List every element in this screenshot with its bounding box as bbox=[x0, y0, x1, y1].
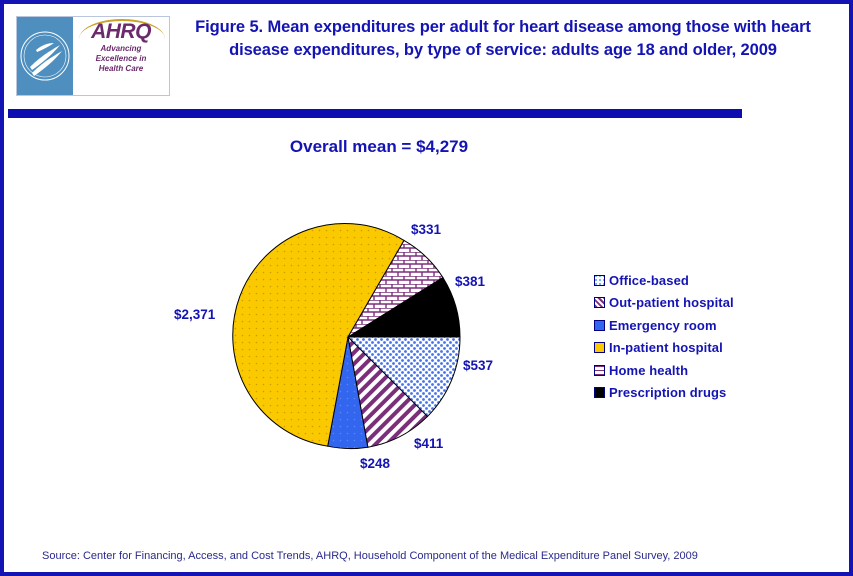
overall-mean-label: Overall mean = $4,279 bbox=[264, 137, 494, 157]
ahrq-logo: AHRQ Advancing Excellence in Health Care bbox=[16, 16, 170, 96]
hhs-seal-icon bbox=[20, 23, 70, 89]
legend-item-home-health[interactable]: Home health bbox=[594, 359, 784, 382]
pie-chart-svg bbox=[8, 164, 568, 494]
hhs-seal-panel bbox=[17, 17, 73, 95]
figure-page: AHRQ Advancing Excellence in Health Care… bbox=[0, 0, 853, 576]
legend-label-home-health: Home health bbox=[609, 363, 688, 378]
value-label-out-patient-hospital: $411 bbox=[414, 436, 443, 451]
pie-chart: $331 $381 $537 $411 $248 $2,371 bbox=[8, 164, 568, 494]
ahrq-tagline: Advancing Excellence in Health Care bbox=[96, 44, 147, 74]
ahrq-acronym: AHRQ bbox=[91, 21, 151, 42]
legend-item-in-patient-hospital[interactable]: In-patient hospital bbox=[594, 337, 784, 360]
legend-label-emergency-room: Emergency room bbox=[609, 318, 717, 333]
header-divider bbox=[8, 109, 742, 118]
legend-label-out-patient-hospital: Out-patient hospital bbox=[609, 295, 734, 310]
ahrq-tagline-line1: Advancing bbox=[96, 44, 147, 54]
source-note: Source: Center for Financing, Access, an… bbox=[42, 550, 698, 562]
value-label-home-health: $331 bbox=[411, 222, 441, 237]
chart-area: $331 $381 $537 $411 $248 $2,371 Office-b… bbox=[8, 164, 853, 524]
legend-swatch-emergency-room bbox=[594, 320, 605, 331]
value-label-prescription-drugs: $381 bbox=[455, 274, 485, 289]
legend-swatch-out-patient-hospital bbox=[594, 297, 605, 308]
figure-header: AHRQ Advancing Excellence in Health Care… bbox=[8, 8, 853, 104]
pie-slices bbox=[233, 223, 460, 448]
ahrq-tagline-line2: Excellence in bbox=[96, 54, 147, 64]
legend-item-office-based[interactable]: Office-based bbox=[594, 269, 784, 292]
value-label-in-patient-hospital: $2,371 bbox=[174, 307, 215, 322]
chart-legend: Office-based Out-patient hospital Emerge… bbox=[594, 269, 784, 404]
legend-swatch-home-health bbox=[594, 365, 605, 376]
legend-swatch-prescription-drugs bbox=[594, 387, 605, 398]
legend-item-out-patient-hospital[interactable]: Out-patient hospital bbox=[594, 292, 784, 315]
value-label-office-based: $537 bbox=[463, 358, 493, 373]
legend-item-prescription-drugs[interactable]: Prescription drugs bbox=[594, 382, 784, 405]
legend-label-in-patient-hospital: In-patient hospital bbox=[609, 340, 723, 355]
legend-label-office-based: Office-based bbox=[609, 273, 689, 288]
ahrq-tagline-line3: Health Care bbox=[96, 64, 147, 74]
legend-swatch-in-patient-hospital bbox=[594, 342, 605, 353]
value-label-emergency-room: $248 bbox=[360, 456, 390, 471]
figure-title: Figure 5. Mean expenditures per adult fo… bbox=[183, 16, 823, 62]
legend-swatch-office-based bbox=[594, 275, 605, 286]
legend-label-prescription-drugs: Prescription drugs bbox=[609, 385, 726, 400]
ahrq-wordmark: AHRQ Advancing Excellence in Health Care bbox=[73, 17, 169, 95]
legend-item-emergency-room[interactable]: Emergency room bbox=[594, 314, 784, 337]
